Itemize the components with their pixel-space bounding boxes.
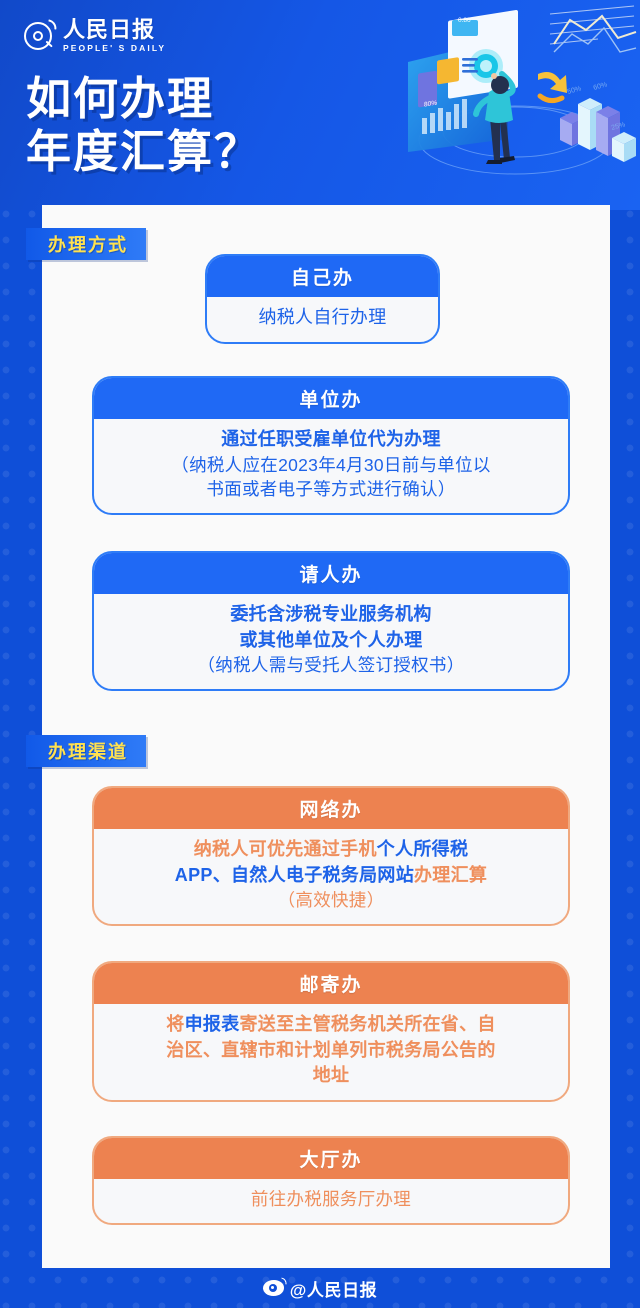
footer: @人民日报: [0, 1268, 640, 1308]
card-agent-service[interactable]: 请人办 委托含涉税专业服务机构 或其他单位及个人办理 （纳税人需与受托人签订授权…: [92, 551, 570, 691]
card-line: 书面或者电子等方式进行确认）: [108, 477, 554, 502]
highlight-text: 申报表: [185, 1014, 240, 1034]
card-header: 网络办: [94, 788, 568, 829]
data-analytics-illustration: 50% 60% 25% 80% 0.86: [390, 0, 640, 200]
page-title-line1: 如何办理: [26, 72, 261, 125]
card-line: （纳税人需与受托人签订授权书）: [108, 653, 554, 678]
card-line: 治区、直辖市和计划单列市税务局公告的: [108, 1038, 554, 1064]
card-text: 地址: [313, 1065, 350, 1085]
card-header: 单位办: [94, 378, 568, 419]
card-title: 请人办: [299, 560, 362, 587]
card-body: 委托含涉税专业服务机构 或其他单位及个人办理 （纳税人需与受托人签订授权书）: [94, 594, 568, 689]
card-body: 纳税人可优先通过手机个人所得税APP、自然人电子税务局网站办理汇算（高效快捷）: [94, 829, 568, 924]
card-header: 邮寄办: [94, 963, 568, 1004]
highlight-text: 个人所得税: [377, 839, 469, 859]
at-sign-icon: [24, 20, 56, 52]
svg-text:60%: 60%: [593, 81, 608, 92]
weibo-eye-icon: [263, 1280, 284, 1296]
section-tab-methods: 办理方式: [26, 228, 146, 260]
card-employer-service[interactable]: 单位办 通过任职受雇单位代为办理 （纳税人应在2023年4月30日前与单位以 书…: [92, 376, 570, 515]
card-line: 纳税人可优先通过手机个人所得税: [108, 837, 554, 863]
weibo-handle: @人民日报: [290, 1276, 378, 1301]
card-line: 将申报表寄送至主管税务机关所在省、自: [108, 1012, 554, 1038]
card-body: 通过任职受雇单位代为办理 （纳税人应在2023年4月30日前与单位以 书面或者电…: [94, 419, 568, 513]
svg-text:0.86: 0.86: [458, 17, 471, 24]
svg-text:50%: 50%: [567, 85, 582, 96]
card-title: 网络办: [299, 795, 362, 822]
brand-masthead: 人民日报 PEOPLE' S DAILY: [24, 19, 166, 53]
card-mail-channel[interactable]: 邮寄办 将申报表寄送至主管税务机关所在省、自治区、直辖市和计划单列市税务局公告的…: [92, 961, 570, 1102]
card-line: （纳税人应在2023年4月30日前与单位以: [108, 453, 554, 478]
card-title: 邮寄办: [299, 970, 362, 997]
card-hall-channel[interactable]: 大厅办 前往办税服务厅办理: [92, 1136, 570, 1225]
card-body: 纳税人自行办理: [207, 297, 438, 342]
card-header: 请人办: [94, 553, 568, 594]
card-line: APP、自然人电子税务局网站办理汇算: [108, 863, 554, 889]
section-tab-channels-label: 办理渠道: [48, 738, 128, 764]
brand-name-en: PEOPLE' S DAILY: [63, 44, 166, 53]
page-title-line2: 年度汇算？: [26, 125, 261, 178]
card-body: 将申报表寄送至主管税务机关所在省、自治区、直辖市和计划单列市税务局公告的地址: [94, 1004, 568, 1100]
card-text: 办理汇算: [414, 865, 487, 885]
card-line: 地址: [108, 1063, 554, 1089]
card-text: 寄送至主管税务机关所在省、自: [240, 1014, 496, 1034]
card-line: 前往办税服务厅办理: [108, 1187, 554, 1212]
card-line: 或其他单位及个人办理: [108, 628, 554, 654]
card-text: 纳税人可优先通过手机: [194, 839, 377, 859]
card-title: 单位办: [299, 385, 362, 412]
card-self-service[interactable]: 自己办 纳税人自行办理: [205, 254, 440, 344]
card-line: 纳税人自行办理: [221, 305, 424, 331]
card-text: 治区、直辖市和计划单列市税务局公告的: [166, 1040, 495, 1060]
card-header: 自己办: [207, 256, 438, 297]
page-title: 如何办理 年度汇算？: [26, 72, 261, 178]
brand-name-cn: 人民日报: [63, 19, 166, 41]
header: 人民日报 PEOPLE' S DAILY 如何办理 年度汇算？: [0, 0, 640, 205]
card-line: （高效快捷）: [108, 888, 554, 913]
section-tab-methods-label: 办理方式: [48, 231, 128, 257]
card-text: 前往办税服务厅办理: [251, 1189, 411, 1209]
highlight-text: APP、自然人电子税务局网站: [175, 865, 414, 885]
card-online-channel[interactable]: 网络办 纳税人可优先通过手机个人所得税APP、自然人电子税务局网站办理汇算（高效…: [92, 786, 570, 926]
card-text: （高效快捷）: [278, 890, 385, 910]
card-body: 前往办税服务厅办理: [94, 1179, 568, 1223]
card-header: 大厅办: [94, 1138, 568, 1179]
card-text: 将: [166, 1014, 184, 1034]
card-line: 通过任职受雇单位代为办理: [108, 427, 554, 453]
card-line: 委托含涉税专业服务机构: [108, 602, 554, 628]
card-title: 大厅办: [299, 1145, 362, 1172]
card-title: 自己办: [291, 263, 354, 290]
section-tab-channels: 办理渠道: [26, 735, 146, 767]
